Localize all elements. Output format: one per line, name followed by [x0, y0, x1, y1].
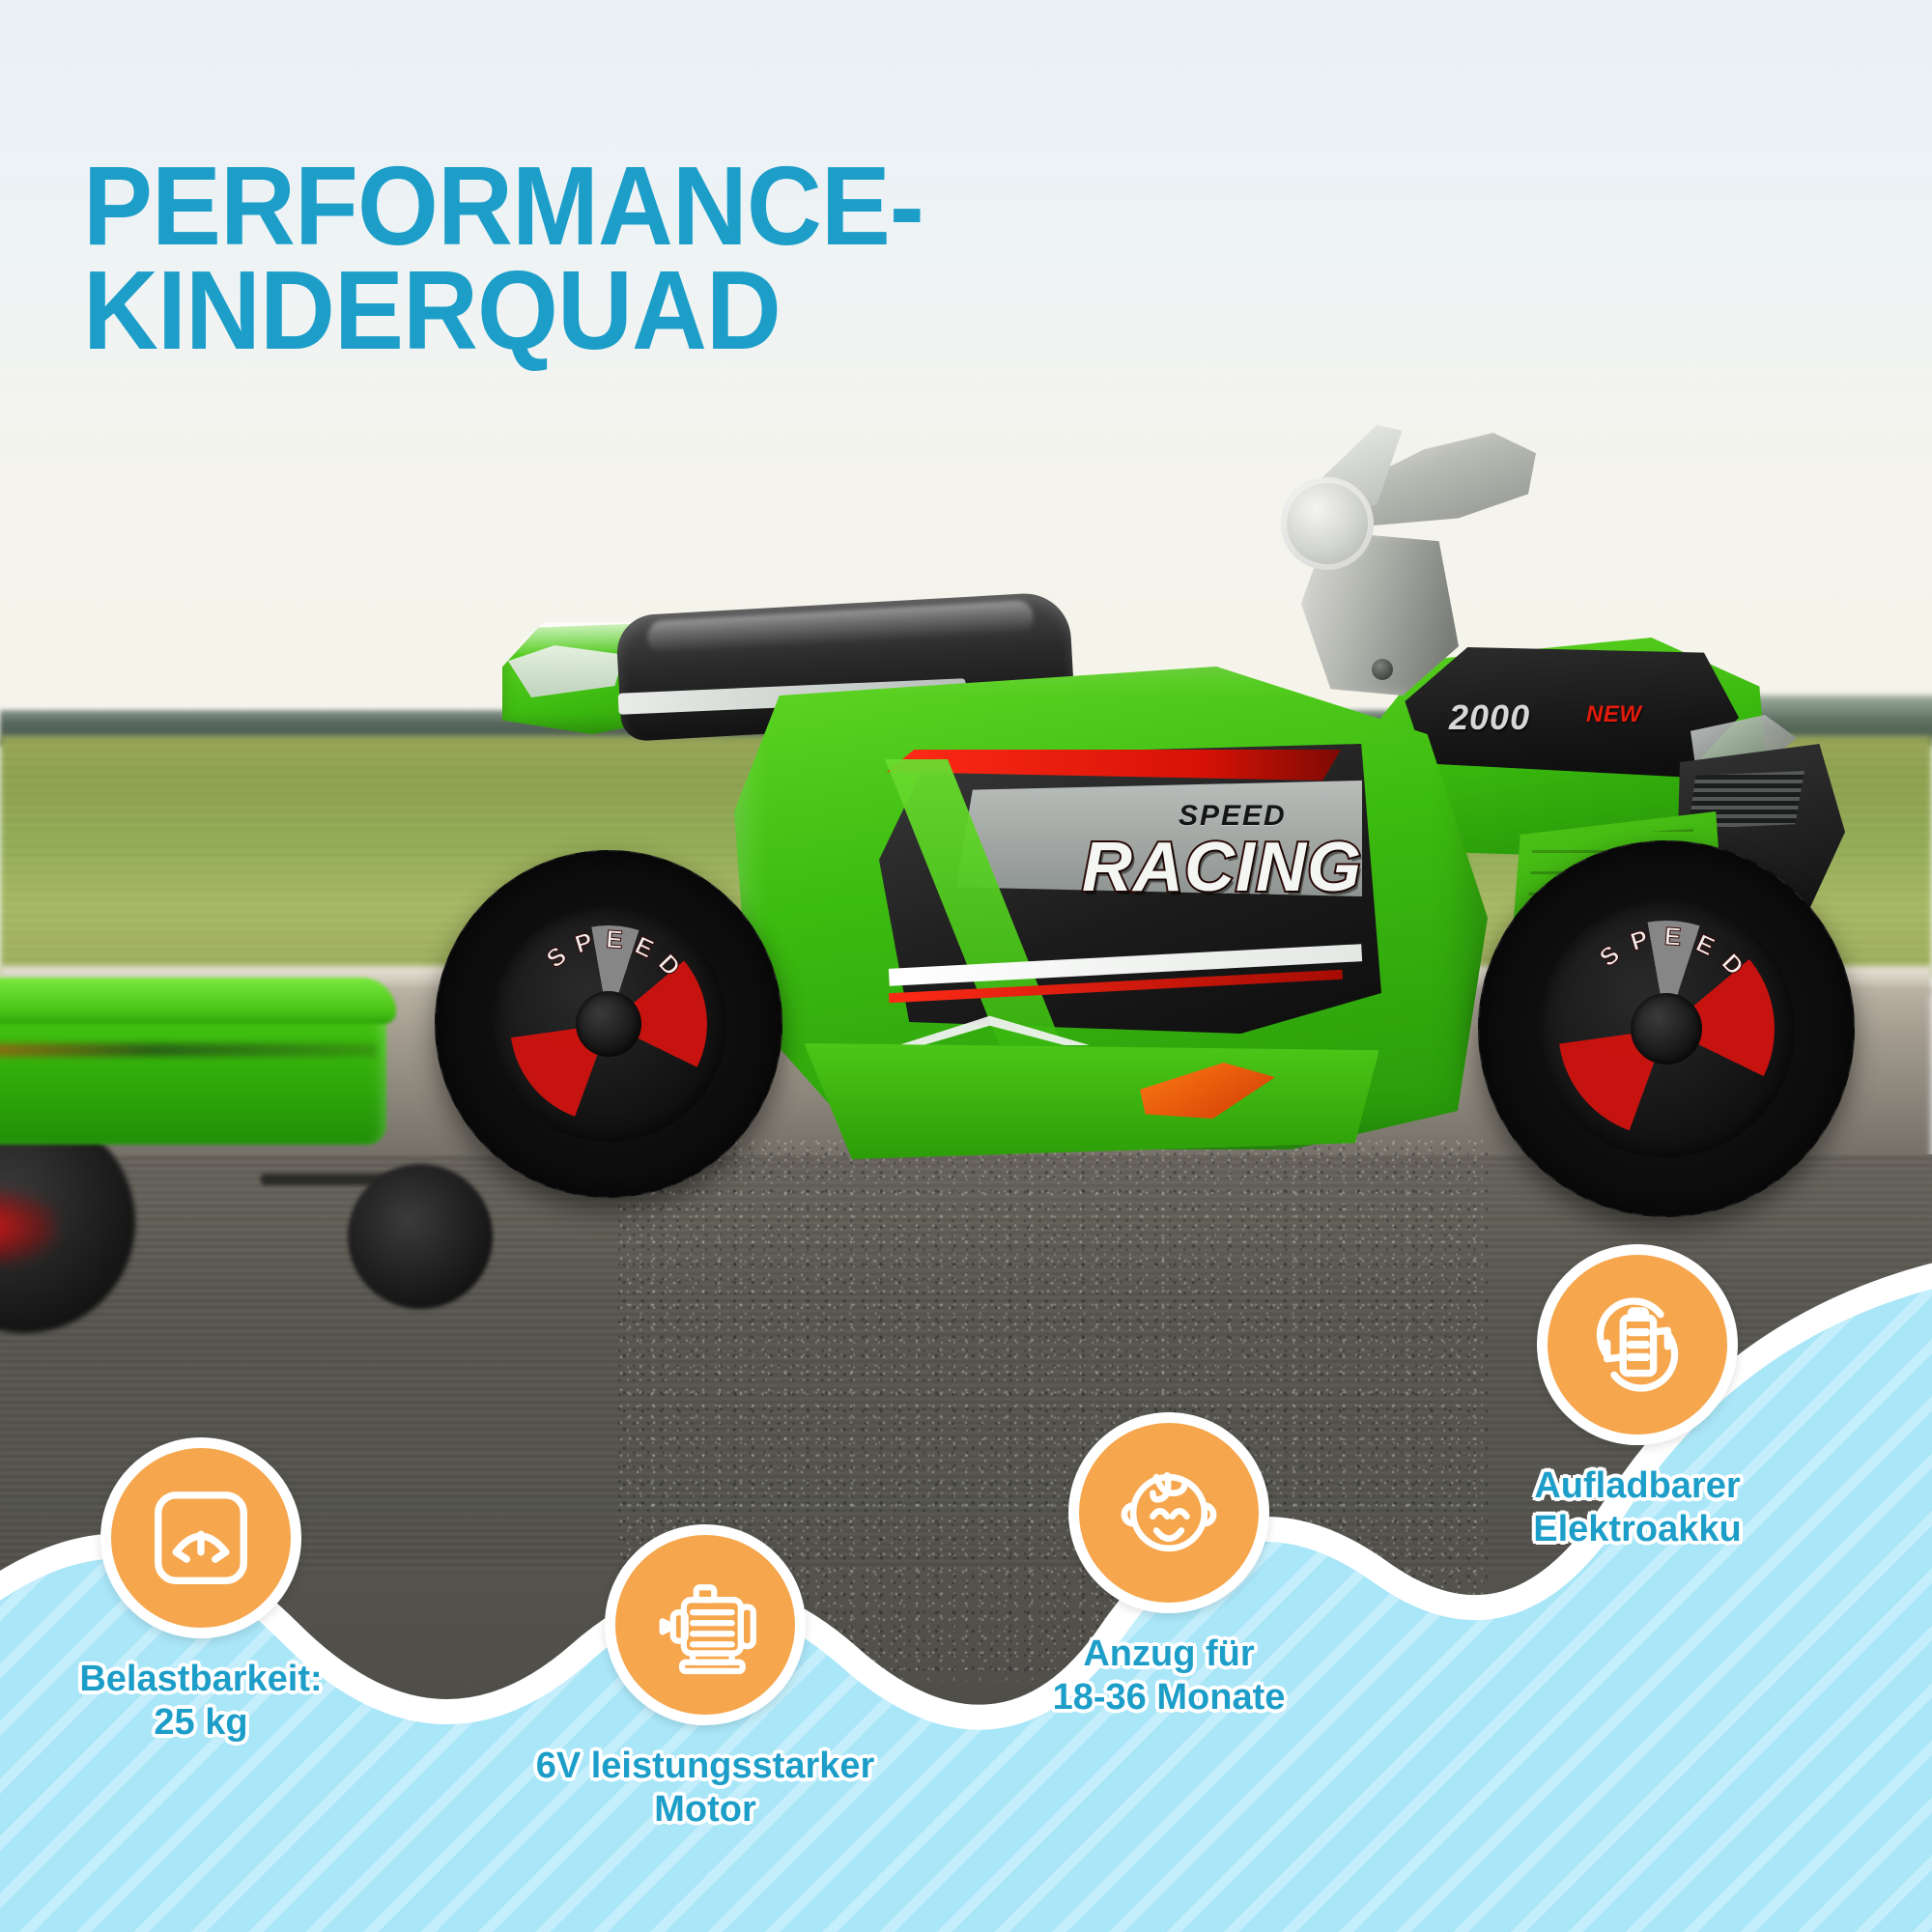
feature-label: Anzug für 18-36 Monate [1005, 1633, 1333, 1719]
weight-scale-icon [144, 1481, 258, 1595]
feature-label: 6V leistungsstarker Motor [517, 1745, 894, 1832]
trailer-taillight [0, 1188, 58, 1265]
rear-wheel: SPEED [1478, 840, 1855, 1217]
trailer-wheel-front [348, 1164, 493, 1309]
feature-label: Belastbarkeit: 25 kg [46, 1658, 355, 1745]
decal-racing: RACING [1082, 833, 1362, 902]
decal-model-number: 2000 [1449, 700, 1530, 735]
front-hub-cap [576, 991, 641, 1057]
feature-badge-circle [100, 1437, 301, 1638]
feature-label: Aufladbarer Elektroakku [1449, 1464, 1826, 1551]
feature-battery[interactable]: Aufladbarer Elektroakku [1449, 1244, 1826, 1551]
feature-motor[interactable]: 6V leistungsstarker Motor [517, 1524, 894, 1832]
steering-assembly [1227, 415, 1546, 696]
rear-hub-cap [1631, 993, 1702, 1065]
trailer-shadow-line [0, 1043, 377, 1057]
front-wheel: SPEED [435, 850, 782, 1198]
baby-face-icon [1112, 1456, 1226, 1570]
feature-badge-circle [1068, 1412, 1269, 1613]
product-banner: 2000 NEW SPEED RACING [0, 0, 1932, 1932]
trailer-rim [0, 978, 396, 1024]
decal-speed: SPEED [1179, 802, 1287, 831]
electric-motor-icon [648, 1568, 762, 1682]
feature-badge-circle [605, 1524, 806, 1725]
title-line-2: KINDERQUAD [83, 259, 1071, 363]
feature-load-capacity[interactable]: Belastbarkeit: 25 kg [46, 1437, 355, 1745]
page-title: PERFORMANCE- KINDERQUAD [83, 155, 1071, 363]
trailer [0, 985, 435, 1304]
rechargeable-battery-icon [1580, 1288, 1694, 1402]
feature-age-range[interactable]: Anzug für 18-36 Monate [1005, 1412, 1333, 1719]
steering-disc [1281, 477, 1374, 570]
decal-model-suffix: NEW [1586, 703, 1642, 726]
feature-badge-circle [1537, 1244, 1738, 1445]
steering-bolt [1372, 659, 1393, 680]
footwell [792, 1043, 1391, 1159]
